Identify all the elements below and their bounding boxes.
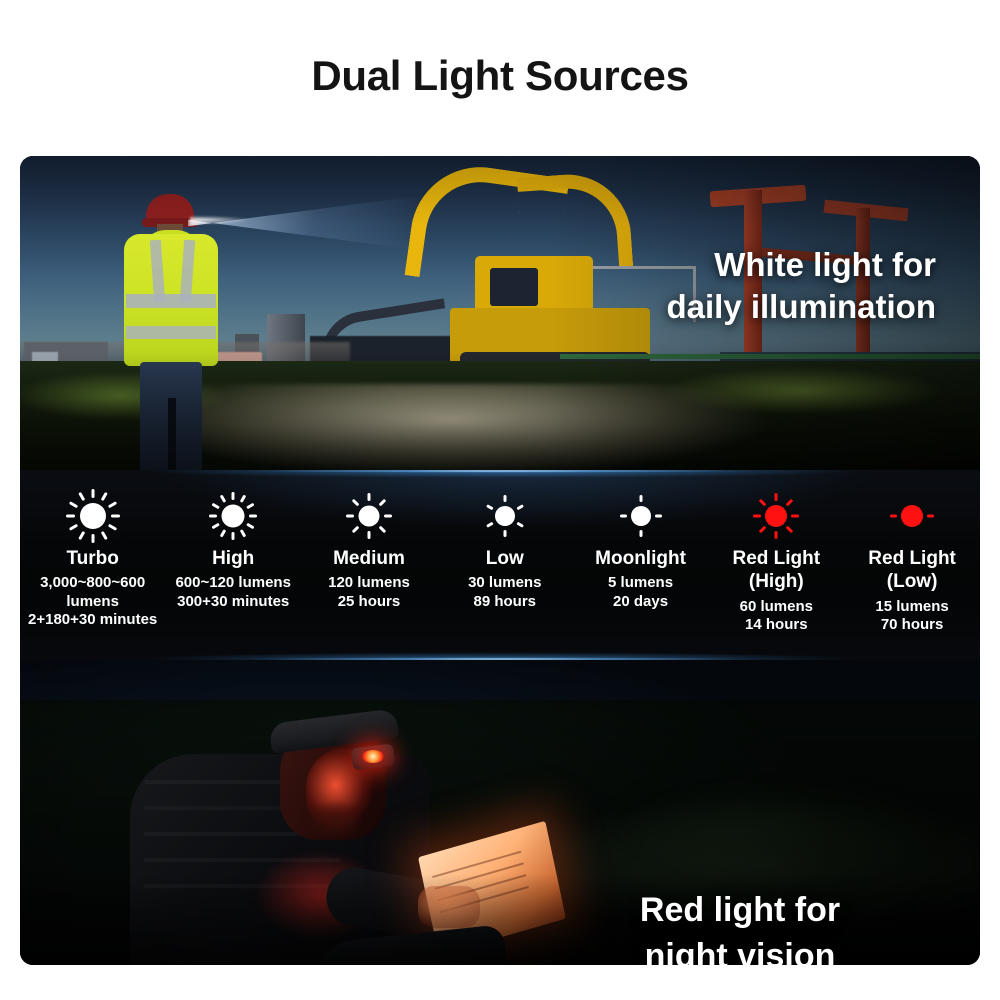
sun-disc [901,505,923,527]
sun-ray [639,530,642,537]
mode-sub-name: (High) [708,571,844,592]
sun-ray [212,503,220,510]
sun-ray [246,503,254,510]
mode-spec: 60 lumens14 hours [708,598,844,635]
sun-icon [884,488,940,544]
sun-disc [80,503,106,529]
mode-name: Red Light [844,548,980,569]
sun-ray [346,515,354,518]
mode-spec-line: 25 hours [301,593,437,611]
sun-ray [240,494,247,502]
mode-spec: 120 lumens25 hours [301,574,437,611]
sun-ray [367,493,370,501]
sun-ray [107,524,116,531]
mode-spec-line: 3,000~800~600 [20,574,165,592]
red-light-caption: Red light for night vision [540,888,940,965]
sun-ray [107,501,116,508]
infographic-page: Dual Light Sources [0,0,1000,1000]
sun-ray [249,515,257,518]
page-title: Dual Light Sources [0,52,1000,100]
sun-ray [759,499,767,507]
mode-column-turbo: Turbo3,000~800~600lumens2+180+30 minutes [20,470,165,660]
mode-column-medium: Medium120 lumens25 hours [301,470,437,660]
sun-ray [379,526,387,534]
sun-ray [111,515,120,518]
sun-icon [341,488,397,544]
sun-ray [212,523,220,530]
sun-ray [786,499,794,507]
mode-name: Red Light [708,548,844,569]
sun-ray [516,522,524,528]
red-light-caption-line2: night vision [540,934,940,965]
sun-ray [503,495,506,502]
mode-spec-line: 70 hours [844,616,980,634]
sun-ray [352,526,360,534]
sun-icon [205,488,261,544]
sun-disc [495,506,515,526]
mode-spec-line: 89 hours [437,593,573,611]
sun-ray [66,515,75,518]
sun-ray [759,526,767,534]
mode-spec: 15 lumens70 hours [844,598,980,635]
sun-ray [503,530,506,537]
mode-column-moonlight: Moonlight5 lumens20 days [573,470,709,660]
sun-ray [69,501,78,508]
sun-ray [69,524,78,531]
mode-specification-bar: Turbo3,000~800~600lumens2+180+30 minutes… [20,470,980,660]
sun-ray [209,515,217,518]
sun-ray [775,493,778,501]
sun-ray [486,522,494,528]
red-light-photo: Red light for night vision [20,660,980,965]
sun-icon [477,488,533,544]
white-light-caption: White light for daily illumination [516,244,936,327]
sun-disc [631,506,651,526]
mode-spec-line: 15 lumens [844,598,980,616]
mode-spec-line: 60 lumens [708,598,844,616]
white-light-caption-line1: White light for [516,244,936,286]
mode-name: Turbo [20,548,165,569]
mode-spec: 5 lumens20 days [573,574,709,611]
mode-column-red-light-high: Red Light(High)60 lumens14 hours [708,470,844,660]
mode-spec: 3,000~800~600lumens2+180+30 minutes [20,574,165,629]
mode-spec: 30 lumens89 hours [437,574,573,611]
dual-light-card: White light for daily illumination Turbo… [20,156,980,965]
sun-ray [91,534,94,543]
sun-disc [358,506,379,527]
sun-disc [222,505,245,528]
sun-ray [516,504,524,510]
white-light-photo: White light for daily illumination [20,156,980,470]
sun-icon [65,488,121,544]
mode-list: Turbo3,000~800~600lumens2+180+30 minutes… [20,470,980,660]
sun-icon [613,488,669,544]
sun-ray [91,489,94,498]
sun-ray [240,529,247,537]
sun-ray [246,523,254,530]
mode-spec-line: 20 days [573,593,709,611]
sun-ray [232,532,235,540]
mode-sub-name: (Low) [844,571,980,592]
mode-spec-line: 600~120 lumens [165,574,301,592]
sun-ray [232,492,235,500]
sun-ray [753,515,761,518]
mode-name: Medium [301,548,437,569]
sun-ray [639,495,642,502]
sun-ray [78,492,85,501]
mode-spec-line: lumens [20,593,165,611]
sun-ray [352,499,360,507]
sun-disc [765,505,787,527]
sun-ray [890,515,897,518]
sun-ray [220,529,227,537]
sun-ray [775,531,778,539]
mode-spec-line: 2+180+30 minutes [20,611,165,629]
mode-spec-line: 30 lumens [437,574,573,592]
mode-column-low: Low30 lumens89 hours [437,470,573,660]
sun-ray [791,515,799,518]
white-light-caption-line2: daily illumination [516,286,936,328]
mode-name: Low [437,548,573,569]
sun-ray [786,526,794,534]
mode-column-red-light-low: Red Light(Low)15 lumens70 hours [844,470,980,660]
sun-ray [655,515,662,518]
mode-spec-line: 120 lumens [301,574,437,592]
mode-spec: 600~120 lumens300+30 minutes [165,574,301,611]
sun-ray [486,504,494,510]
mode-name: High [165,548,301,569]
sun-ray [379,499,387,507]
mode-name: Moonlight [573,548,709,569]
mode-spec-line: 5 lumens [573,574,709,592]
sun-ray [100,492,107,501]
red-light-caption-line1: Red light for [540,888,940,934]
sun-ray [384,515,392,518]
sun-ray [620,515,627,518]
sun-ray [220,494,227,502]
sun-ray [78,531,85,540]
mode-spec-line: 300+30 minutes [165,593,301,611]
sun-ray [100,531,107,540]
sun-ray [927,515,934,518]
sun-icon [748,488,804,544]
mode-column-high: High600~120 lumens300+30 minutes [165,470,301,660]
mode-spec-line: 14 hours [708,616,844,634]
sun-ray [367,531,370,539]
